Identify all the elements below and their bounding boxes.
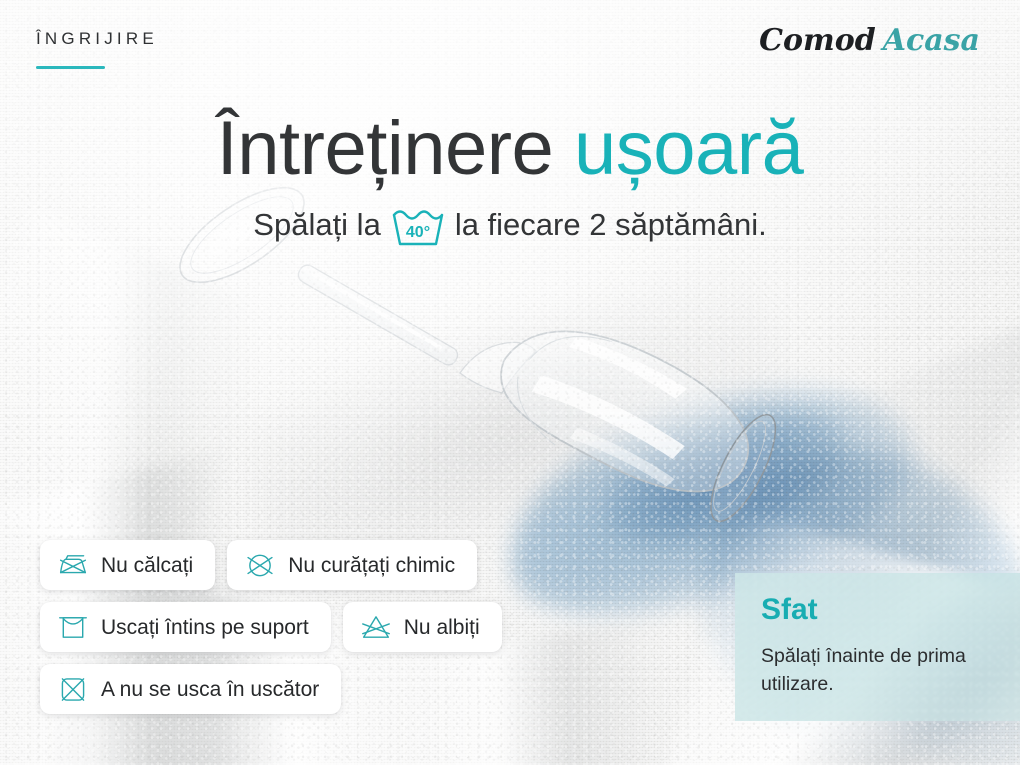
tip-title: Sfat (761, 595, 994, 625)
subtitle-text-before: Spălați la (253, 207, 381, 243)
care-symbols-row: A nu se usca în uscător (40, 664, 660, 714)
care-chip-no-iron[interactable]: Nu călcați (40, 540, 215, 590)
care-chip-dry-flat[interactable]: Uscați întins pe suport (40, 602, 331, 652)
care-chip-label: A nu se usca în uscător (101, 679, 319, 700)
wash-temperature-label: 40° (406, 224, 430, 241)
section-eyebrow: ÎNGRIJIRE (36, 30, 158, 69)
page-title-main: Întreținere (217, 106, 554, 191)
care-chip-no-bleach[interactable]: Nu albiți (343, 602, 502, 652)
no-tumble-dry-icon (57, 675, 89, 703)
care-chip-label: Nu călcați (101, 555, 193, 576)
care-symbols-row: Uscați întins pe suport Nu albiți (40, 602, 660, 652)
page-title: Întreținere ușoară (0, 108, 1020, 190)
brand-logo-first-word: Comod (759, 23, 876, 58)
hero-block: Întreținere ușoară Spălați la 40° la fie… (0, 108, 1020, 246)
care-chip-label: Nu curățați chimic (288, 555, 455, 576)
care-chip-label: Nu albiți (404, 617, 480, 638)
tip-panel: Sfat Spălați înainte de prima utilizare. (735, 573, 1020, 721)
no-iron-icon (57, 551, 89, 579)
care-symbols-list: Nu călcați Nu curățați chimic (40, 540, 660, 726)
care-chip-no-tumble-dry[interactable]: A nu se usca în uscător (40, 664, 341, 714)
tip-body: Spălați înainte de prima utilizare. (761, 643, 994, 698)
eyebrow-label: ÎNGRIJIRE (36, 30, 158, 47)
no-dry-clean-icon (244, 551, 276, 579)
no-bleach-icon (360, 613, 392, 641)
brand-logo-second-word: Acasa (883, 23, 980, 58)
dry-flat-icon (57, 613, 89, 641)
care-symbols-row: Nu călcați Nu curățați chimic (40, 540, 660, 590)
care-instructions-poster: ÎNGRIJIRE ComodAcasa Întreținere ușoară … (0, 0, 1020, 765)
brand-logo: ComodAcasa (759, 26, 980, 56)
page-subtitle: Spălați la 40° la fiecare 2 săptămâni. (0, 204, 1020, 246)
care-chip-label: Uscați întins pe suport (101, 617, 309, 638)
subtitle-text-after: la fiecare 2 săptămâni. (455, 207, 767, 243)
page-title-accent: ușoară (574, 106, 803, 191)
care-chip-no-dry-clean[interactable]: Nu curățați chimic (227, 540, 477, 590)
eyebrow-underline (36, 66, 105, 69)
wash-40-degrees-icon: 40° (390, 206, 446, 248)
